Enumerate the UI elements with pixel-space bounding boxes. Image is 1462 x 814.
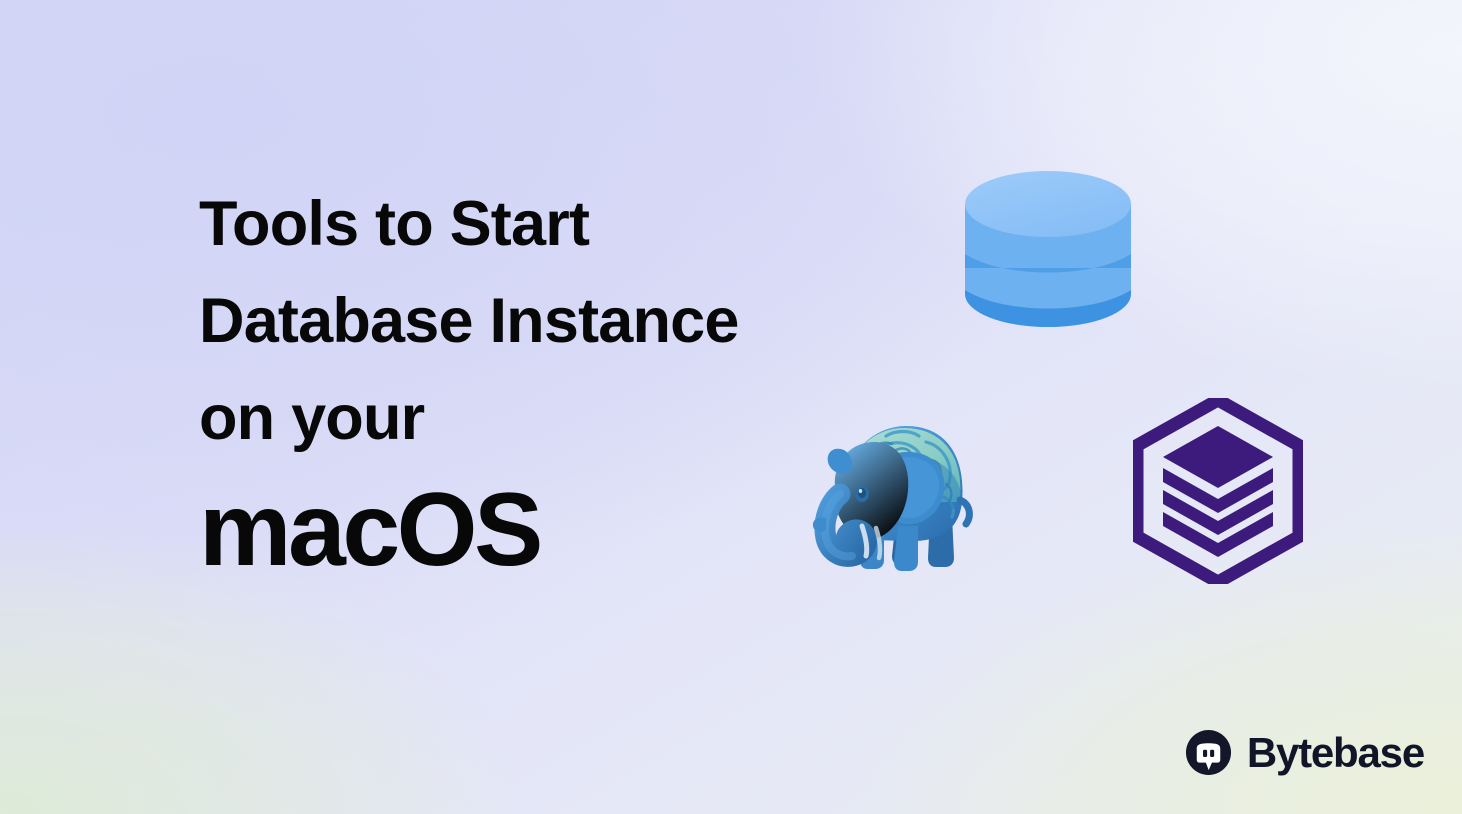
banner-root: Tools to Start Database Instance on your…	[0, 0, 1462, 814]
mariadb-cube-icon	[1133, 398, 1303, 584]
bytebase-logo-icon	[1185, 729, 1232, 776]
postgresql-elephant-icon	[800, 398, 990, 584]
headline-line-4-macos: macOS	[199, 471, 899, 589]
headline-line-1: Tools to Start	[199, 176, 899, 273]
headline-line-2: Database Instance	[199, 273, 899, 370]
page-title: Tools to Start Database Instance on your…	[199, 176, 899, 589]
brand-name-text: Bytebase	[1247, 732, 1424, 774]
database-cylinder-icon	[961, 168, 1135, 330]
headline-line-3: on your	[199, 370, 899, 467]
brand-logo: Bytebase	[1185, 729, 1424, 776]
